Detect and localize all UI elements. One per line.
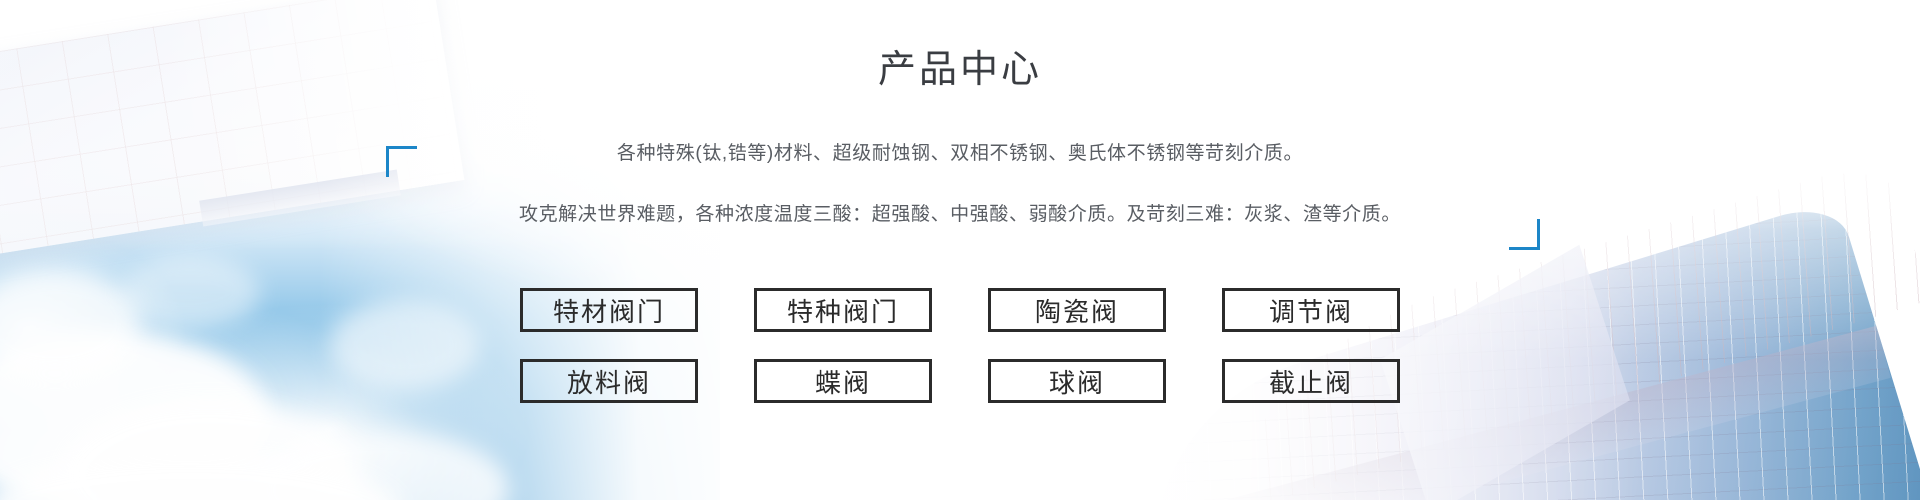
category-button-row-1: 特材阀门 特种阀门 陶瓷阀 调节阀: [520, 288, 1400, 332]
category-button-globe-valve[interactable]: 截止阀: [1222, 359, 1400, 403]
category-button-discharge-valve[interactable]: 放料阀: [520, 359, 698, 403]
description-line-2: 攻克解决世界难题，各种浓度温度三酸：超强酸、中强酸、弱酸介质。及苛刻三难：灰浆、…: [0, 198, 1920, 232]
category-button-ceramic-valve[interactable]: 陶瓷阀: [988, 288, 1166, 332]
category-button-grid: 特材阀门 特种阀门 陶瓷阀 调节阀 放料阀 蝶阀 球阀 截止阀: [0, 288, 1920, 403]
category-button-special-valve[interactable]: 特种阀门: [754, 288, 932, 332]
category-button-butterfly-valve[interactable]: 蝶阀: [754, 359, 932, 403]
page-title: 产品中心: [0, 48, 1920, 94]
description-line-1: 各种特殊(钛,锆等)材料、超级耐蚀钢、双相不锈钢、奥氏体不锈钢等苛刻介质。: [0, 137, 1920, 171]
category-button-control-valve[interactable]: 调节阀: [1222, 288, 1400, 332]
category-button-row-2: 放料阀 蝶阀 球阀 截止阀: [520, 359, 1400, 403]
category-button-ball-valve[interactable]: 球阀: [988, 359, 1166, 403]
banner-content: 产品中心 各种特殊(钛,锆等)材料、超级耐蚀钢、双相不锈钢、奥氏体不锈钢等苛刻介…: [0, 0, 1920, 500]
category-button-techai-valve[interactable]: 特材阀门: [520, 288, 698, 332]
description-block: 各种特殊(钛,锆等)材料、超级耐蚀钢、双相不锈钢、奥氏体不锈钢等苛刻介质。 攻克…: [0, 137, 1920, 232]
product-center-banner: 产品中心 各种特殊(钛,锆等)材料、超级耐蚀钢、双相不锈钢、奥氏体不锈钢等苛刻介…: [0, 0, 1920, 500]
